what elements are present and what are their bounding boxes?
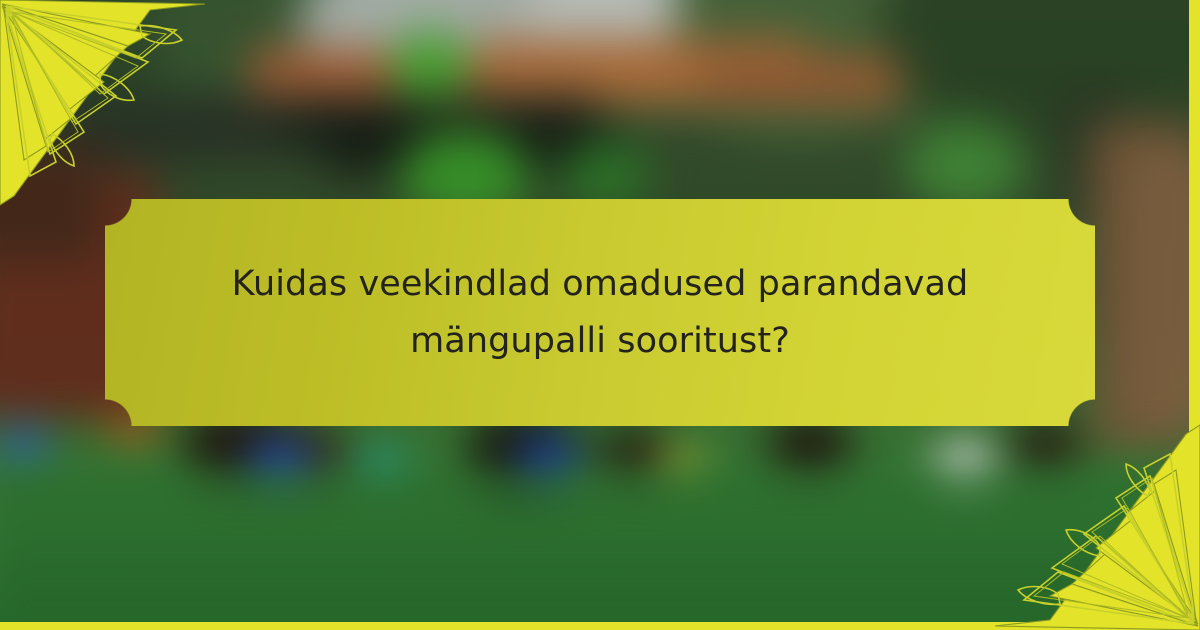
- share-card-canvas: Kuidas veekindlad omadused parandavad mä…: [0, 0, 1200, 630]
- question-card: Kuidas veekindlad omadused parandavad mä…: [105, 199, 1095, 426]
- page-title: Kuidas veekindlad omadused parandavad mä…: [160, 256, 1040, 369]
